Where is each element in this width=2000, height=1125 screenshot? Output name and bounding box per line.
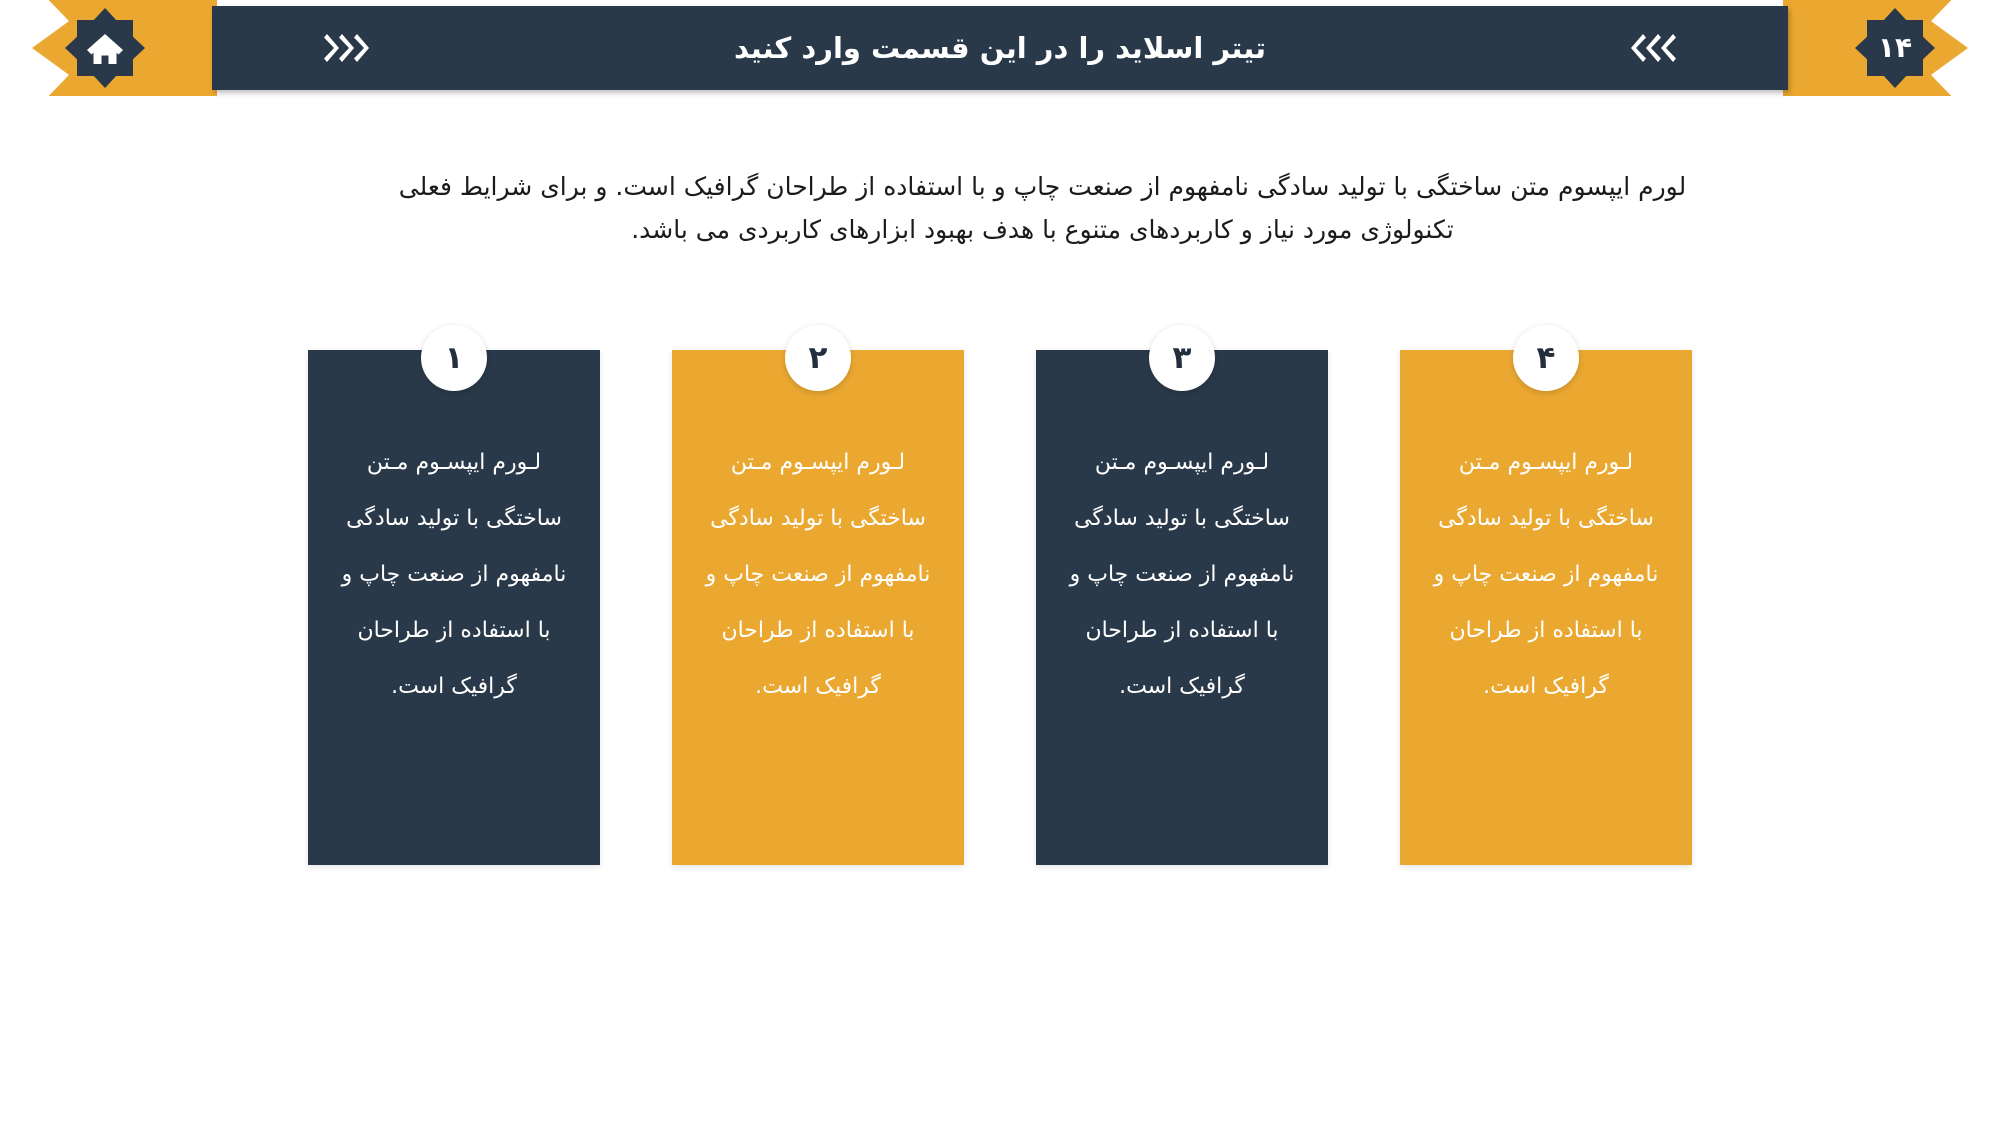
card-badge-number: ۲ [809,343,828,374]
chevron-double-left-icon [1659,33,1676,63]
slide-root: { "header": { "title": "تیتر اسلاید را د… [0,0,2000,1125]
home-icon [83,26,127,70]
chevron-double-right-icon [339,33,356,63]
card-badge-number: ۱ [445,343,464,374]
chevron-double-right-icon [324,33,341,63]
slide-header: ۱۴ تیتر اسلاید را در این قسمت وارد کنید [0,0,2000,96]
page-title: تیتر اسلاید را در این قسمت وارد کنید [370,31,1630,65]
chevron-double-left-icon [1644,33,1661,63]
card-badge: ۴ [1513,325,1579,391]
card-body: لـورم ایپسـوم مـتن ساختگی با تولید سادگی… [1400,350,1692,865]
card-body: لـورم ایپسـوم مـتن ساختگی با تولید سادگی… [672,350,964,865]
card-body: لـورم ایپسـوم مـتن ساختگی با تولید سادگی… [1036,350,1328,865]
card-body: لـورم ایپسـوم مـتن ساختگی با تولید سادگی… [308,350,600,865]
card-badge-number: ۴ [1537,343,1556,374]
card-badge: ۳ [1149,325,1215,391]
chevron-double-right-icon [354,33,371,63]
card-badge: ۲ [785,325,851,391]
prev-slide-button[interactable] [1630,33,1740,63]
page-number: ۱۴ [1878,34,1912,62]
intro-paragraph: لورم ایپسوم متن ساختگی با تولید سادگی نا… [360,165,1725,251]
home-button[interactable] [65,8,145,88]
title-bar: تیتر اسلاید را در این قسمت وارد کنید [212,6,1788,90]
card-badge: ۱ [421,325,487,391]
page-number-badge: ۱۴ [1855,8,1935,88]
next-slide-button[interactable] [260,33,370,63]
card-badge-number: ۳ [1173,343,1192,374]
chevron-double-left-icon [1629,33,1646,63]
